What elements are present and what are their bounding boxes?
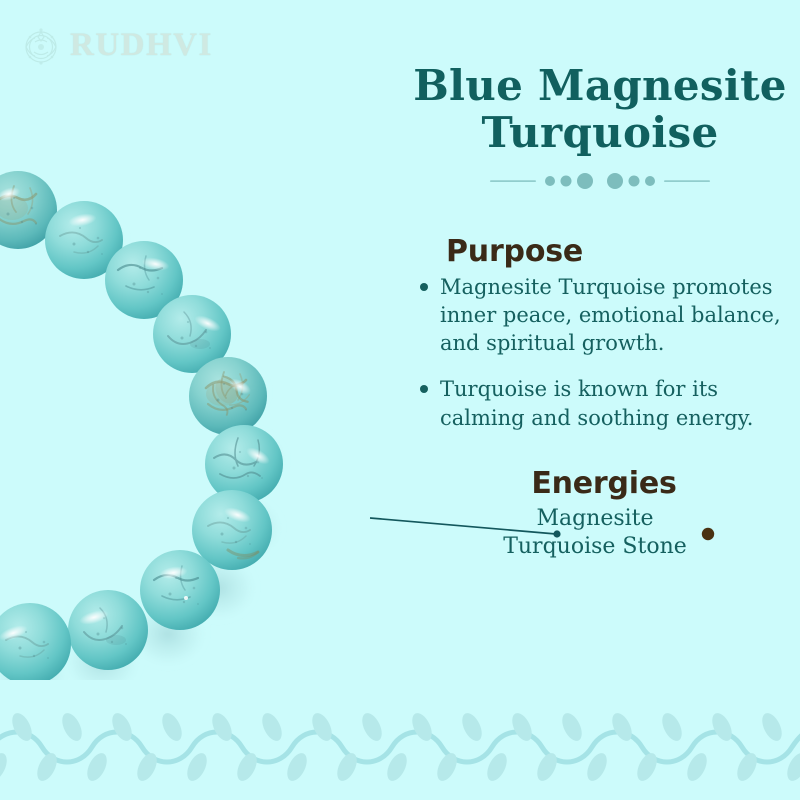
brand-logo: RUDHVI <box>18 18 238 72</box>
bead <box>189 357 267 435</box>
list-item-text: Magnesite Turquoise promotes inner peace… <box>440 275 781 355</box>
purpose-heading: Purpose <box>446 234 790 269</box>
section-purpose: Purpose Magnesite Turquoise promotes inn… <box>418 234 790 450</box>
title-line-1: Blue Magnesite <box>413 61 787 110</box>
dots-divider-icon <box>470 170 730 192</box>
bead <box>140 550 220 630</box>
page-title-block: Blue Magnesite Turquoise <box>400 62 800 197</box>
purpose-bullet-list: Magnesite Turquoise promotes inner peace… <box>418 273 790 432</box>
bead <box>0 603 71 680</box>
bead <box>205 425 283 503</box>
list-item: Magnesite Turquoise promotes inner peace… <box>418 273 790 357</box>
energies-callout-label: Magnesite Turquoise Stone <box>418 505 790 560</box>
callout-label-line-1: Magnesite <box>536 506 653 531</box>
bullet-dot-icon <box>420 385 428 393</box>
energies-heading: Energies <box>418 466 790 501</box>
leaf-vine-border-icon <box>0 705 800 800</box>
page-title: Blue Magnesite Turquoise <box>400 62 800 156</box>
list-item: Turquoise is known for its calming and s… <box>418 375 790 431</box>
infographic-canvas: RUDHVI Blue Magnesite Turquoise Purpose <box>0 0 800 800</box>
list-item-text: Turquoise is known for its calming and s… <box>440 377 753 429</box>
title-line-2: Turquoise <box>481 108 718 157</box>
bullet-dot-icon <box>420 283 428 291</box>
section-energies: Energies Magnesite Turquoise Stone <box>418 466 790 560</box>
brand-name: RUDHVI <box>70 29 213 62</box>
product-image-bracelet <box>0 120 410 680</box>
bead <box>68 590 148 670</box>
ornamental-badge-icon <box>18 22 64 68</box>
callout-label-line-2: Turquoise Stone <box>503 534 687 559</box>
